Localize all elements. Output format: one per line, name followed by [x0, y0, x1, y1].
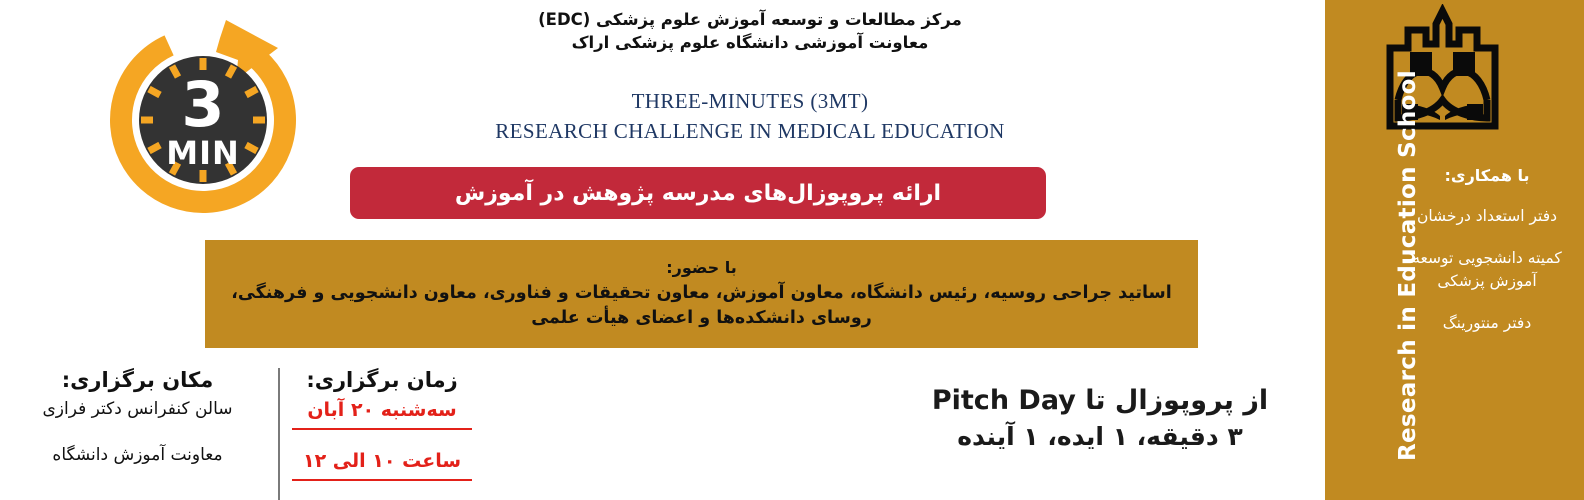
- event-title-english: THREE-MINUTES (3MT) RESEARCH CHALLENGE I…: [400, 86, 1100, 147]
- pitch-day-slogan: از پروپوزال تا Pitch Day ۳ دقیقه، ۱ ایده…: [900, 383, 1300, 454]
- time-block: زمان برگزاری: سه‌شنبه ۲۰ آبان ساعت ۱۰ ال…: [292, 368, 472, 481]
- venue-hall: سالن کنفرانس دکتر فرازی: [10, 399, 265, 419]
- event-title-line2: RESEARCH CHALLENGE IN MEDICAL EDUCATION: [400, 116, 1100, 146]
- clock-number: 3: [181, 68, 224, 141]
- attendees-box: با حضور: اساتید جراحی روسیه، رئیس دانشگا…: [205, 240, 1198, 348]
- right-sidebar: Research in Education School با همکاری: …: [1325, 0, 1584, 500]
- clock-unit: MIN: [166, 134, 240, 172]
- main-topic-text: ارائه پروپوزال‌های مدرسه پژوهش در آموزش: [455, 181, 941, 206]
- cooperation-list: با همکاری: دفتر استعداد درخشان کمیته دان…: [1403, 166, 1571, 355]
- pitch-slogan-prefix: از پروپوزال تا: [1076, 385, 1268, 416]
- time-title: زمان برگزاری:: [292, 368, 472, 392]
- pitch-day-label: Pitch Day: [932, 385, 1076, 416]
- org-line-university: معاونت آموزشی دانشگاه علوم پزشکی اراک: [430, 31, 1070, 54]
- attendees-list: اساتید جراحی روسیه، رئیس دانشگاه، معاون …: [219, 281, 1184, 329]
- event-hours: ساعت ۱۰ الی ۱۲: [292, 450, 472, 481]
- cooperation-title: با همکاری:: [1403, 166, 1571, 185]
- event-date: سه‌شنبه ۲۰ آبان: [292, 399, 472, 430]
- poster-canvas: 3 MIN مرکز مطالعات و توسعه آموزش علوم پز…: [0, 0, 1584, 500]
- venue-title: مکان برگزاری:: [10, 368, 265, 392]
- partner-item: دفتر استعداد درخشان: [1403, 205, 1571, 227]
- event-title-line1: THREE-MINUTES (3MT): [400, 86, 1100, 116]
- partner-item: دفتر منتورینگ: [1403, 312, 1571, 334]
- venue-block: مکان برگزاری: سالن کنفرانس دکتر فرازی مع…: [10, 368, 265, 465]
- main-topic-banner: ارائه پروپوزال‌های مدرسه پژوهش در آموزش: [350, 167, 1046, 219]
- attendees-title: با حضور:: [666, 258, 737, 278]
- org-line-edc: مرکز مطالعات و توسعه آموزش علوم پزشکی (E…: [430, 8, 1070, 31]
- venue-department: معاونت آموزش دانشگاه: [10, 445, 265, 465]
- organization-header: مرکز مطالعات و توسعه آموزش علوم پزشکی (E…: [430, 8, 1070, 55]
- partner-item: کمیته دانشجویی توسعه آموزش پزشکی: [1403, 247, 1571, 292]
- pitch-slogan-line2: ۳ دقیقه، ۱ ایده، ۱ آینده: [900, 420, 1300, 454]
- vertical-divider: [278, 368, 280, 500]
- pitch-slogan-line1: از پروپوزال تا Pitch Day: [900, 383, 1300, 418]
- three-minute-clock-icon: 3 MIN: [108, 8, 298, 218]
